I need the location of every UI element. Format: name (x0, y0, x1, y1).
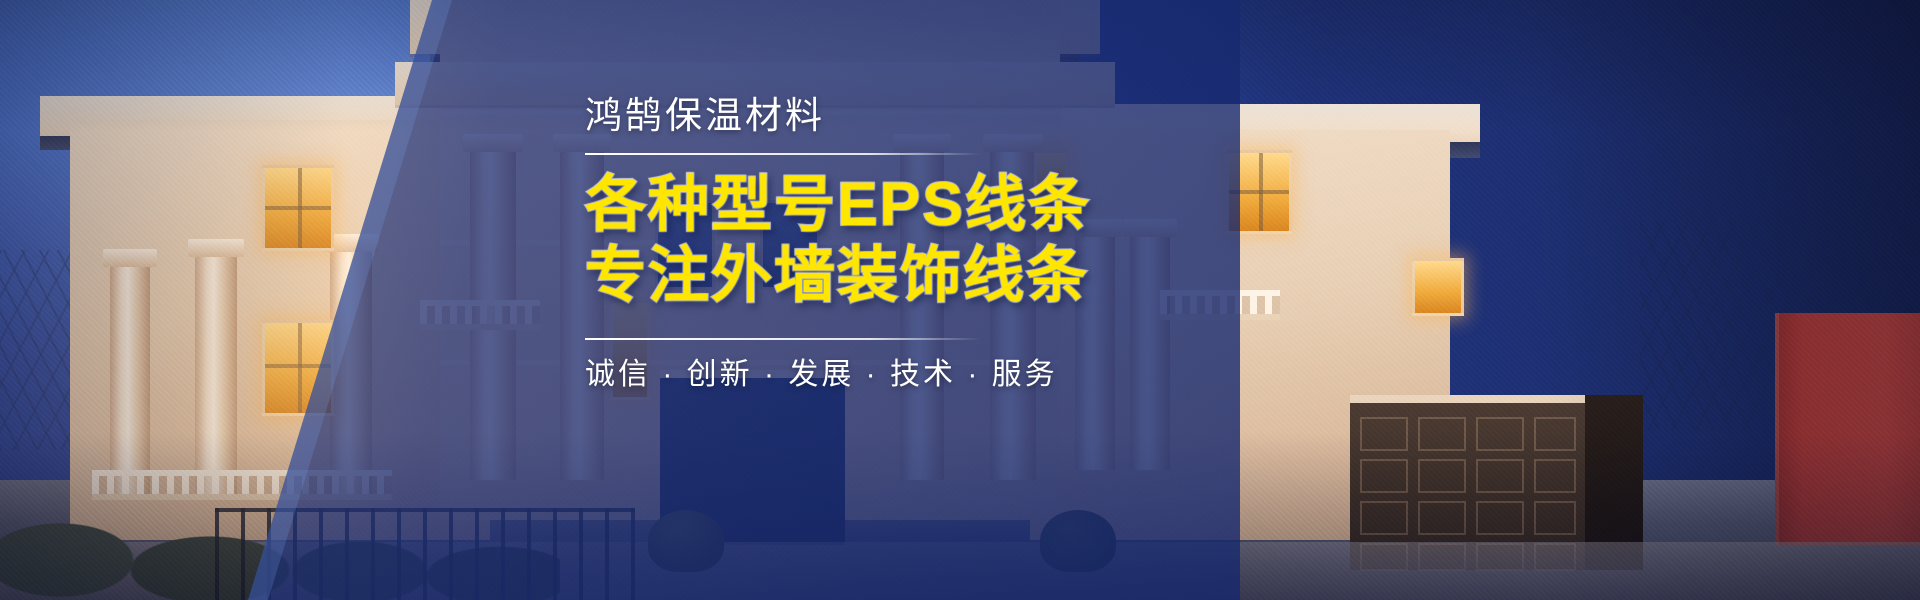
banner-content: 鸿鹄保温材料 各种型号EPS线条 专注外墙装饰线条 诚信 · 创新 · 发展 ·… (585, 96, 1145, 393)
tagline: 诚信 · 创新 · 发展 · 技术 · 服务 (585, 357, 1145, 393)
headline-line-1: 各种型号EPS线条 (585, 169, 1145, 240)
headline: 各种型号EPS线条 专注外墙装饰线条 (585, 169, 1145, 312)
promo-banner: 鸿鹄保温材料 各种型号EPS线条 专注外墙装饰线条 诚信 · 创新 · 发展 ·… (0, 0, 1920, 600)
brand-name: 鸿鹄保温材料 (585, 96, 1145, 137)
divider-top (585, 153, 980, 155)
divider-bottom (585, 338, 980, 340)
headline-line-2: 专注外墙装饰线条 (585, 240, 1145, 311)
